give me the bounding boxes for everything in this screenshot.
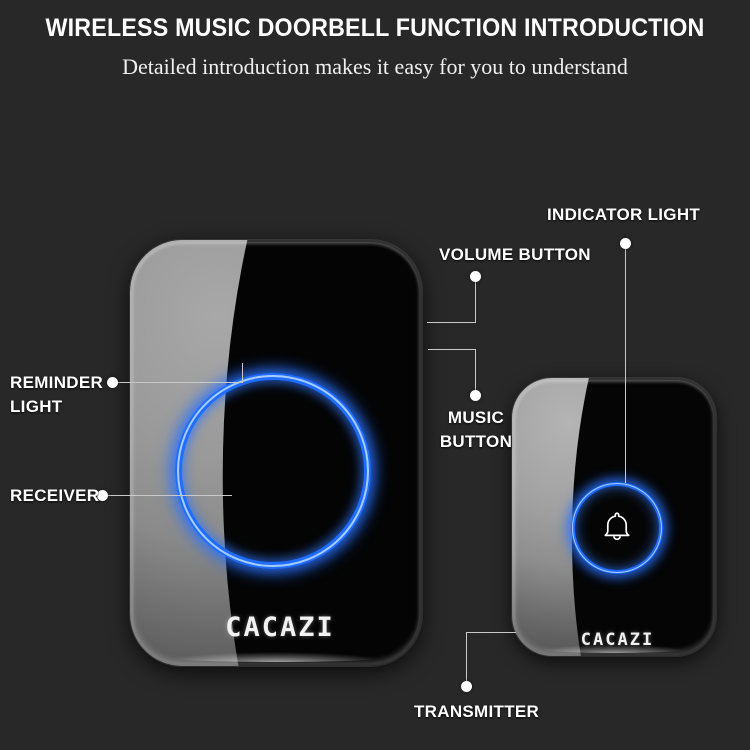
leader-line-reminder-light-h xyxy=(112,382,242,383)
bell-icon xyxy=(598,508,636,546)
callout-dot-indicator-light xyxy=(620,238,631,249)
leader-line-reminder-light-v xyxy=(242,363,243,383)
callout-label-music-button: MUSIC BUTTON xyxy=(416,406,536,454)
receiver-blue-ring-icon xyxy=(175,373,371,569)
callout-dot-volume-button xyxy=(470,271,481,282)
callout-label-indicator-light: INDICATOR LIGHT xyxy=(547,203,700,227)
leader-line-indicator-light xyxy=(625,243,626,483)
page-subtitle: Detailed introduction makes it easy for … xyxy=(0,54,750,80)
product-infographic: WIRELESS MUSIC DOORBELL FUNCTION INTRODU… xyxy=(0,0,750,750)
callout-label-reminder-light: REMINDER LIGHT xyxy=(10,371,103,419)
callout-dot-reminder-light xyxy=(107,377,118,388)
page-title: WIRELESS MUSIC DOORBELL FUNCTION INTRODU… xyxy=(26,14,724,43)
leader-line-music-h xyxy=(428,349,476,350)
callout-label-transmitter: TRANSMITTER xyxy=(414,700,539,724)
leader-line-volume-h xyxy=(427,322,476,323)
callout-dot-music-button xyxy=(470,390,481,401)
callout-label-receiver: RECEIVER xyxy=(10,484,99,508)
receiver-rim-highlight xyxy=(150,648,401,662)
callout-label-volume-button: VOLUME BUTTON xyxy=(439,243,591,267)
receiver-brand-logo: CACAZI xyxy=(195,612,365,643)
transmitter-brand-logo: CACAZI xyxy=(560,630,675,650)
leader-line-volume-v xyxy=(475,276,476,322)
leader-line-music-v xyxy=(475,349,476,395)
receiver-ring-inner xyxy=(177,375,369,567)
callout-dot-transmitter xyxy=(461,681,472,692)
leader-line-transmitter-v xyxy=(466,632,467,686)
leader-line-transmitter-h xyxy=(466,632,516,633)
leader-line-receiver xyxy=(102,495,232,496)
